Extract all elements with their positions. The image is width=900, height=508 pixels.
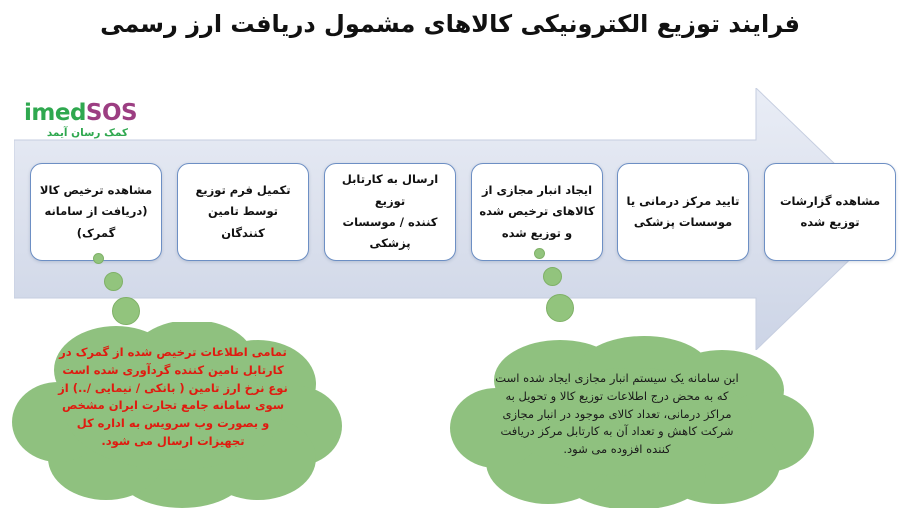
process-step-2[interactable]: تکمیل فرم توزیع توسط تامین کنندگان xyxy=(177,163,309,261)
logo-imed-text: imed xyxy=(24,100,86,126)
process-step-3-label: ارسال به کارتابل توزیع کننده / موسسات پز… xyxy=(332,169,448,254)
logo-wordmark: imedSOS xyxy=(24,102,137,125)
process-step-3[interactable]: ارسال به کارتابل توزیع کننده / موسسات پز… xyxy=(324,163,456,261)
process-step-4[interactable]: ایجاد انبار مجازی از کالاهای ترخیص شده و… xyxy=(471,163,603,261)
process-step-1-label: مشاهده ترخیص کالا (دریافت از سامانه گمرک… xyxy=(40,180,152,244)
process-step-6[interactable]: مشاهده گزارشات توزیع شده xyxy=(764,163,896,261)
callout-right-dot-medium xyxy=(543,267,562,286)
callout-left-text: تمامی اطلاعات ترخیص شده از گمرک در کارتا… xyxy=(48,344,298,451)
process-step-6-label: مشاهده گزارشات توزیع شده xyxy=(780,191,880,234)
logo-sos-text: SOS xyxy=(86,100,137,126)
logo-tagline: کمک رسان آیمد xyxy=(24,127,128,139)
process-step-1[interactable]: مشاهده ترخیص کالا (دریافت از سامانه گمرک… xyxy=(30,163,162,261)
callout-right-dot-small xyxy=(534,248,545,259)
callout-right-dot-large xyxy=(546,294,574,322)
callout-right-text: این سامانه یک سیستم انبار مجازی ایجاد شد… xyxy=(472,370,762,459)
callout-left-dot-small xyxy=(93,253,104,264)
process-step-5[interactable]: تایید مرکز درمانی یا موسسات پزشکی xyxy=(617,163,749,261)
page-title: فرایند توزیع الکترونیکی کالاهای مشمول در… xyxy=(0,8,900,40)
process-step-2-label: تکمیل فرم توزیع توسط تامین کنندگان xyxy=(185,180,301,244)
process-step-4-label: ایجاد انبار مجازی از کالاهای ترخیص شده و… xyxy=(479,180,594,244)
callout-left-dot-large xyxy=(112,297,140,325)
brand-logo: imedSOS کمک رسان آیمد xyxy=(24,102,137,139)
callout-left-dot-medium xyxy=(104,272,123,291)
process-step-5-label: تایید مرکز درمانی یا موسسات پزشکی xyxy=(627,191,740,234)
